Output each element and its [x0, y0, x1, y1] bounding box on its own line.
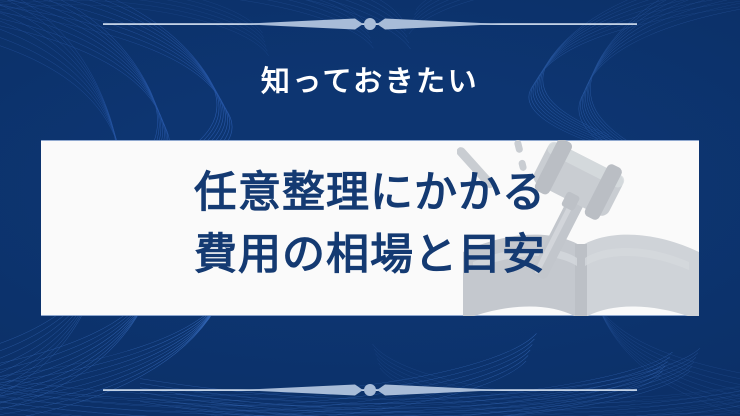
divider-center-circle — [364, 18, 376, 30]
title-card: 任意整理にかかる 費用の相場と目安 — [41, 140, 699, 316]
card-title-line-1: 任意整理にかかる — [41, 162, 699, 224]
divider-arrow-right — [377, 19, 502, 30]
card-title: 任意整理にかかる 費用の相場と目安 — [41, 162, 699, 286]
bottom-divider-ornament — [0, 376, 740, 406]
divider-arrow-left — [238, 19, 363, 30]
divider-center-circle — [364, 384, 376, 396]
eyebrow-text: 知っておきたい — [0, 68, 740, 97]
top-divider-ornament — [0, 10, 740, 40]
card-title-line-2: 費用の相場と目安 — [41, 224, 699, 286]
slide-canvas: 知っておきたい — [0, 0, 740, 416]
divider-arrow-left — [238, 385, 363, 396]
divider-arrow-right — [377, 385, 502, 396]
